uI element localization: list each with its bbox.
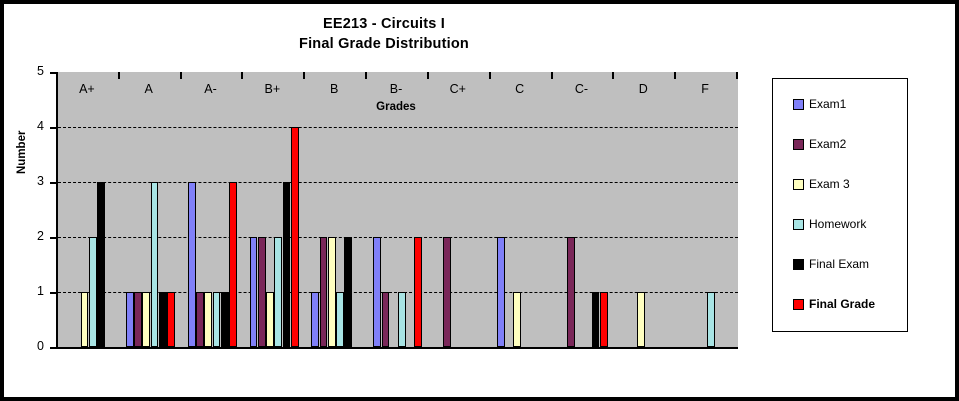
gridline [58,127,738,128]
chart-title: EE213 - Circuits I [4,14,764,34]
bar [320,237,328,347]
x-tick-label: A [145,82,153,96]
x-tick-mark [241,72,243,79]
y-tick-mark [50,347,56,349]
bar [221,292,229,347]
bar [126,292,134,347]
y-tick-label: 3 [16,174,44,188]
legend-item-exam-3: Exam 3 [793,177,850,191]
bar [443,237,451,347]
legend-swatch [793,299,804,310]
bar [167,292,175,347]
bar [398,292,406,347]
y-tick-label: 1 [16,284,44,298]
bar [250,237,258,347]
legend-label: Homework [809,217,866,231]
bar [311,292,319,347]
legend-swatch [793,139,804,150]
x-tick-mark [56,72,58,79]
x-tick-label: A- [204,82,217,96]
legend-label: Final Exam [809,257,869,271]
y-tick-label: 4 [16,119,44,133]
x-tick-mark [365,72,367,79]
chart-frame: EE213 - Circuits I Final Grade Distribut… [4,4,955,397]
bar [497,237,505,347]
x-tick-label: C [515,82,524,96]
bar [414,237,422,347]
legend-swatch [793,259,804,270]
bar [204,292,212,347]
y-tick-label: 2 [16,229,44,243]
x-tick-label: B+ [265,82,281,96]
legend-label: Final Grade [809,297,875,311]
x-tick-mark [612,72,614,79]
y-tick-mark [50,237,56,239]
y-tick-mark [50,292,56,294]
legend-label: Exam2 [809,137,846,151]
bar [637,292,645,347]
bar [344,237,352,347]
legend-item-homework: Homework [793,217,866,231]
legend-swatch [793,219,804,230]
bar [97,182,105,347]
x-tick-label: A+ [79,82,95,96]
bar [274,237,282,347]
chart-title-block: EE213 - Circuits I Final Grade Distribut… [4,14,764,54]
bar [567,237,575,347]
legend-label: Exam1 [809,97,846,111]
legend-item-exam2: Exam2 [793,137,846,151]
y-axis-label: Number [16,131,28,174]
legend-item-final-grade: Final Grade [793,297,875,311]
x-tick-label: C+ [450,82,466,96]
y-tick-label: 5 [16,64,44,78]
gridline [58,237,738,238]
y-tick-mark [50,127,56,129]
x-tick-mark [303,72,305,79]
x-tick-mark [118,72,120,79]
legend-item-final-exam: Final Exam [793,257,869,271]
bar [159,292,167,347]
bar [513,292,521,347]
x-tick-mark [489,72,491,79]
bar [188,182,196,347]
x-tick-label: B- [390,82,403,96]
plot-area [56,72,738,349]
x-tick-mark [674,72,676,79]
bar [134,292,142,347]
bar [707,292,715,347]
legend-label: Exam 3 [809,177,850,191]
bar [328,237,336,347]
y-tick-mark [50,182,56,184]
chart-subtitle: Final Grade Distribution [4,34,764,54]
x-tick-mark [551,72,553,79]
bar [600,292,608,347]
x-tick-mark [736,72,738,79]
legend-item-exam1: Exam1 [793,97,846,111]
y-tick-label: 0 [16,339,44,353]
x-tick-label: F [701,82,709,96]
bar [382,292,390,347]
bar [336,292,344,347]
x-tick-label: C- [575,82,588,96]
bar [213,292,221,347]
bar [258,237,266,347]
bar [196,292,204,347]
x-tick-label: B [330,82,338,96]
bar [373,237,381,347]
x-tick-label: D [639,82,648,96]
bar [592,292,600,347]
legend-swatch [793,179,804,190]
bar [89,237,97,347]
bar [81,292,89,347]
bar [266,292,274,347]
bar [151,182,159,347]
legend: Exam1Exam2Exam 3HomeworkFinal ExamFinal … [772,78,908,332]
x-tick-mark [180,72,182,79]
gridline [58,182,738,183]
bar [291,127,299,347]
plot-wrapper: 012345 A+AA-B+BB-C+CC-DF Grades [56,72,736,347]
x-tick-mark [427,72,429,79]
bar [229,182,237,347]
bar [283,182,291,347]
x-axis-label: Grades [56,101,736,113]
legend-swatch [793,99,804,110]
bar [142,292,150,347]
